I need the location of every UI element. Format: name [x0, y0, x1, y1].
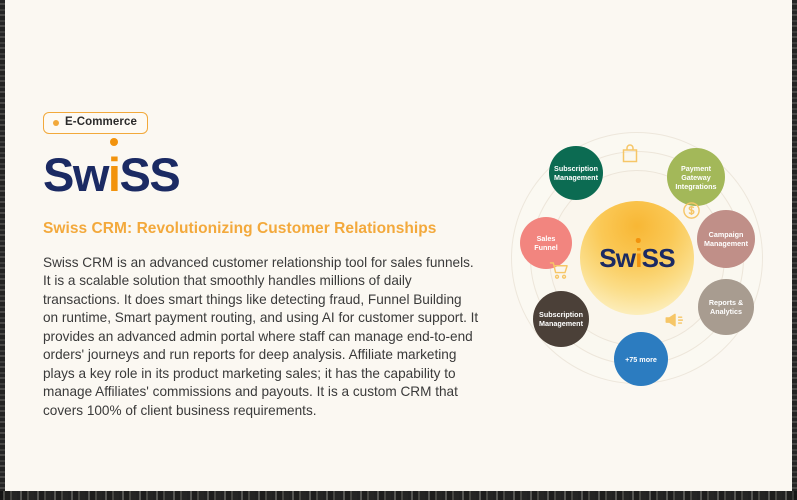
- feature-hub-diagram: SwiSS Subscription ManagementPayment Gat…: [503, 124, 771, 392]
- feature-node-reports-analytics[interactable]: Reports & Analytics: [698, 279, 754, 335]
- hub-logo-i-dot-icon: [636, 238, 641, 243]
- feature-node-label: Campaign Management: [701, 230, 751, 248]
- brand-logo: SwiSS: [43, 151, 483, 198]
- slide-canvas: E-Commerce SwiSS Swiss CRM: Revolutioniz…: [0, 0, 797, 500]
- feature-node-label: Payment Gateway Integrations: [671, 164, 721, 191]
- hub-brand-logo: SwiSS: [599, 245, 675, 271]
- logo-part-2: SS: [119, 151, 179, 198]
- category-badge: E-Commerce: [43, 112, 148, 134]
- logo-letter-i: i: [108, 151, 120, 198]
- megaphone-icon: [664, 312, 686, 329]
- logo-i-stem: i: [108, 148, 120, 201]
- hub-logo-letter-i: i: [635, 245, 641, 271]
- feature-node-label: Subscription Management: [537, 310, 585, 328]
- logo-i-dot-icon: [110, 138, 118, 146]
- hub-logo-i-stem: i: [635, 243, 641, 273]
- feature-node-payment-gateway-integrations[interactable]: Payment Gateway Integrations: [667, 148, 725, 206]
- right-film-edge: [792, 0, 797, 500]
- page-title: Swiss CRM: Revolutionizing Customer Rela…: [43, 220, 483, 238]
- logo-part-1: Sw: [43, 151, 108, 198]
- feature-node-label: +75 more: [625, 355, 657, 364]
- feature-node-plus-75-more[interactable]: +75 more: [614, 332, 668, 386]
- feature-node-subscription-management-brown[interactable]: Subscription Management: [533, 291, 589, 347]
- feature-node-subscription-management-green[interactable]: Subscription Management: [549, 146, 603, 200]
- feature-node-label: Subscription Management: [553, 164, 599, 182]
- feature-node-label: Sales Funnel: [524, 234, 568, 252]
- shopping-bag-icon: [621, 144, 639, 163]
- badge-dot-icon: [53, 120, 59, 126]
- body-paragraph: Swiss CRM is an advanced customer relati…: [43, 254, 480, 421]
- coin-dollar-icon: [682, 201, 701, 220]
- badge-label: E-Commerce: [65, 117, 137, 129]
- hub-logo-part-2: SS: [642, 245, 675, 271]
- content-column: E-Commerce SwiSS Swiss CRM: Revolutioniz…: [43, 112, 483, 420]
- shopping-cart-icon: [549, 261, 570, 280]
- feature-node-campaign-management[interactable]: Campaign Management: [697, 210, 755, 268]
- feature-node-label: Reports & Analytics: [702, 298, 750, 316]
- bottom-film-edge: [0, 491, 797, 500]
- hub-logo-part-1: Sw: [599, 245, 635, 271]
- diagram-hub: SwiSS: [580, 201, 694, 315]
- left-film-edge: [0, 0, 5, 500]
